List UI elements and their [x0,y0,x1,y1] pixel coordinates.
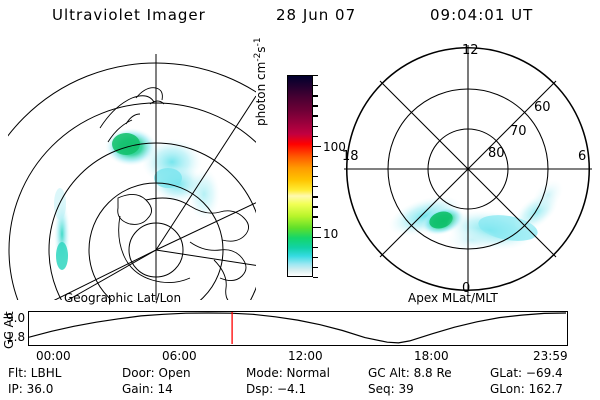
strip-xtick-4: 23:59 [533,349,568,363]
status-mode: Mode: Normal [246,366,330,380]
status-dsp: Dsp: −4.1 [246,382,306,396]
colorbar-gradient [288,76,312,276]
status-door: Door: Open [122,366,191,380]
geographic-image-panel[interactable] [8,38,256,300]
observation-time: 09:04:01 UT [430,6,533,24]
status-glat: GLat: −69.4 [490,366,563,380]
status-footer: Flt: LBHL IP: 36.0 Door: Open Gain: 14 M… [0,366,600,400]
mlat-label-80: 80 [488,146,505,161]
strip-xtick-0: 00:00 [36,349,71,363]
apex-panel-caption: Apex MLat/MLT [408,291,498,305]
colorbar-exp-2: -1 [253,37,263,46]
gc-altitude-strip-chart[interactable] [28,311,568,346]
status-gain: Gain: 14 [122,382,173,396]
apex-mlt-image-panel[interactable]: 12 18 6 0 60 70 80 [340,40,596,298]
status-filter: Flt: LBHL [8,366,61,380]
instrument-title: Ultraviolet Imager [52,6,206,24]
status-glon: GLon: 162.7 [490,382,563,396]
strip-xtick-1: 06:00 [162,349,197,363]
apex-mlt-plot-svg: 12 18 6 0 60 70 80 [340,40,596,298]
header-bar: Ultraviolet Imager 28 Jun 07 09:04:01 UT [0,6,600,30]
colorbar-label-s: s [254,46,268,52]
colorbar-scale[interactable] [287,75,313,277]
status-ip: IP: 36.0 [8,382,53,396]
mlat-label-70: 70 [510,124,527,139]
strip-chart-svg [29,312,566,344]
geographic-plot-svg [8,38,256,300]
colorbar-group: photon cm-2s-1 100 10 [255,70,350,285]
strip-xtick-3: 18:00 [414,349,449,363]
geographic-graticule [8,46,256,300]
status-seq: Seq: 39 [368,382,414,396]
colorbar-tick-marks [313,75,321,277]
orbit-altitude-trace [29,313,566,343]
strip-ytick-low: 1.8 [6,330,25,344]
mlt-label-18: 18 [342,149,359,164]
mlt-spokes [344,45,592,293]
strip-ytick-high: 9.0 [6,311,25,325]
strip-xtick-2: 12:00 [288,349,323,363]
colorbar-axis-label: photon cm-2s-1 [253,37,268,126]
mlt-label-12: 12 [462,43,479,58]
colorbar-tick-label-10: 10 [323,227,338,241]
mlat-label-60: 60 [534,100,551,115]
status-gc-alt: GC Alt: 8.8 Re [368,366,452,380]
colorbar-exp-1: -2 [253,53,263,62]
observation-date: 28 Jun 07 [276,6,356,24]
aurora-emission-layer [54,128,220,270]
colorbar-label-text: photon cm [254,62,268,126]
geographic-panel-caption: Geographic Lat/Lon [64,291,181,305]
mlt-label-6: 6 [578,149,586,164]
